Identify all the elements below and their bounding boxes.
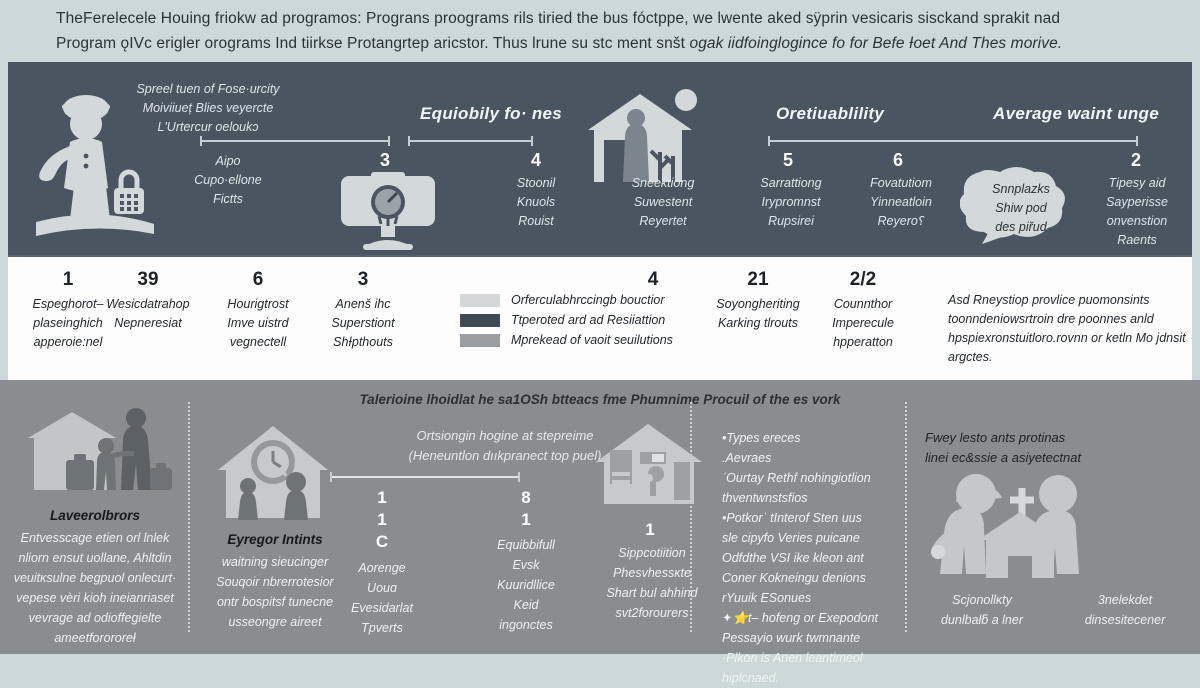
stat2-line1: Hourigtrost: [198, 295, 318, 314]
stat-text-3: Anenš ihc Superstiont ShƗpthouts: [303, 295, 423, 352]
panel5-footer-b: 3nelekdet dinsesitecener: [1055, 590, 1195, 630]
infographic-poster: TheFerelecele Houing friokw ad programos…: [0, 0, 1200, 654]
dark-col0-line2: Cupo·ellone: [168, 171, 288, 190]
panel3-colc-line2: Phesvhessĸte: [600, 563, 704, 583]
stat-num-2: 6: [213, 269, 303, 291]
panel3-colc-line1: Sippcotiition: [600, 543, 704, 563]
stat-num-4: 4: [608, 269, 698, 291]
bullet-11: ·Plkon is Anen leantimeol: [722, 648, 878, 668]
panel4-bullet-list: •Types ereces .Aevraes ˈOurtay Rethf noh…: [722, 428, 878, 688]
worker-caption-line-3: L'Urtercur oeloukɔ: [93, 118, 323, 137]
dark-col6-line2: Sayperisse: [1076, 193, 1198, 212]
divider-3: [905, 402, 907, 632]
legend-row-1: Ttperoted ard ad Resiiattion: [460, 313, 673, 327]
panel3-col-b-body: Equibbifull Evsk Kuuridllice Keid ingonc…: [486, 535, 566, 635]
legend: Orferculabhrccingb bouctior Ttperoted ar…: [460, 293, 673, 353]
stat6-line3: hpperatton: [803, 333, 923, 352]
panel5-heading: Fwey lesto ants protinas linei ec&ssie a…: [925, 428, 1081, 468]
legend-swatch-1: [460, 314, 500, 327]
bullet-8: rYuuik ESonues: [722, 588, 878, 608]
panel1-heading: Laveerolbrors: [10, 508, 180, 523]
panel2-line2: Souqoir nbrerrotesior: [195, 572, 355, 592]
legend-label-1: Ttperoted ard ad Resiiattion: [511, 313, 665, 327]
dark-col5-line3: Reyero⸮: [836, 212, 966, 231]
bullet-3: thventwnstsfios: [722, 488, 878, 508]
bullet-0: •Types ereces: [722, 428, 878, 448]
panel3-colb-line2: Evsk: [486, 555, 566, 575]
stat-text-5: Soyongheriting Karking tlrouts: [698, 295, 818, 333]
stat1-line2: Nepneresiat: [88, 314, 208, 333]
header-line-1: TheFerelecele Houing friokw ad programos…: [56, 6, 1144, 31]
header-line-2a: Program ǫIVc erigler orograms Ind tiirks…: [56, 35, 689, 52]
panel3-axis: [330, 476, 520, 478]
dark-col6-line4: Raents: [1076, 231, 1198, 250]
dark-col5-line2: Yinneatloin: [836, 193, 966, 212]
house-with-key-icon: [590, 422, 710, 512]
dark-col3-line1: Sneektiong: [598, 174, 728, 193]
panel2-line3: ontr bospitsf tunecne: [195, 592, 355, 612]
dark-col2-line3: Rouist: [476, 212, 596, 231]
axis-line-3: [768, 140, 1138, 142]
bullet-2: ˈOurtay Rethf nohingiotlion: [722, 468, 878, 488]
panel2-heading: Eyregor Intints: [205, 532, 345, 547]
bullet-9: ✦⭐t– hofeng or Exepodont: [722, 608, 878, 628]
stat-num-5: 21: [713, 269, 803, 291]
stat-text-1: Wesicdatrahop Nepneresiat: [88, 295, 208, 333]
house-with-clock-icon: [208, 420, 338, 525]
bullet-12: hiplcnaed.: [722, 668, 878, 688]
legend-label-0: Orferculabhrccingb bouctior: [511, 293, 665, 307]
panel3-colb-line5: ingonctes: [486, 615, 566, 635]
panel2-body: waitning sieucinger Souqoir nbrerrotesio…: [195, 552, 355, 632]
stat1-line1: Wesicdatrahop: [88, 295, 208, 314]
worker-caption-line-1: Spreel tuen of Fose·urcity: [93, 80, 323, 99]
family-with-luggage-icon: [24, 408, 184, 508]
header-line-2b: ogak iidfoinglogince fo for Befe Ɨoet An…: [689, 35, 1062, 52]
dark-col3-line2: Suwestent: [598, 193, 728, 212]
dark-num-6: 6: [868, 150, 928, 171]
white-stats-band: 1 Espeghorot– plaseinghich apperoie:nel …: [8, 255, 1192, 382]
two-people-house-icon: [930, 468, 1110, 588]
worker-caption: Spreel tuen of Fose·urcity Moiviiueț Bli…: [93, 80, 323, 137]
dark-col-caption-0: Aipo Cupo·ellone Fictts: [168, 152, 288, 209]
dark-num-3: 3: [355, 150, 415, 171]
panel3-colb-line3: Kuuridllice: [486, 575, 566, 595]
panel5-head-line2: linei ec&ssie a asiyetectnat: [925, 448, 1081, 468]
panel2-line1: waitning sieucinger: [195, 552, 355, 572]
monitor-gauge-icon: [333, 172, 443, 252]
legend-swatch-0: [460, 294, 500, 307]
header-text-block: TheFerelecele Houing friokw ad programos…: [0, 0, 1200, 62]
heading-equibily: Equiobily fo· nes: [420, 104, 562, 124]
panel5-foot-b-line2: dinsesitecener: [1055, 610, 1195, 630]
panel1-line2: nliorn ensut uollane, Ahltdin: [0, 548, 190, 568]
panel1-line6: ameetforororeł: [0, 628, 190, 648]
dark-col3-line3: Reyertet: [598, 212, 728, 231]
bullet-7: Coner Kokneingu denions: [722, 568, 878, 588]
stat3-line3: ShƗpthouts: [303, 333, 423, 352]
stat0-line3: apperoie:nel: [8, 333, 128, 352]
panel5-foot-a-line2: dunlbałƃ a lner: [912, 610, 1052, 630]
dark-col-caption-3: Sneektiong Suwestent Reyertet: [598, 174, 728, 231]
axis-line-1: [200, 140, 390, 142]
panel3-cola-line1: Aorenge: [342, 558, 422, 578]
legend-row-2: Mprekead of vaoit seuilutions: [460, 333, 673, 347]
gray-band-title: Talerioine lhoidlat he sa1OSh btteacs fm…: [0, 392, 1200, 407]
dark-num-5: 5: [758, 150, 818, 171]
panel1-line4: vepese vèri kioh ineianriaset: [0, 588, 190, 608]
panel3-colb-line4: Keid: [486, 595, 566, 615]
stat5-line1: Soyongheriting: [698, 295, 818, 314]
panel2-line4: usseongre aireet: [195, 612, 355, 632]
panel3-cola-line3: Evesidarlat: [342, 598, 422, 618]
panel3-cola-line2: Uouɑ: [342, 578, 422, 598]
dark-col-caption-5: Fovatutiom Yinneatloin Reyero⸮: [836, 174, 966, 231]
legend-swatch-2: [460, 334, 500, 347]
dark-col2-line1: Stoonil: [476, 174, 596, 193]
stat-text-6: Counnthor Imperecule hpperatton: [803, 295, 923, 352]
panel3-col-a-body: Aorenge Uouɑ Evesidarlat Tpverts: [342, 558, 422, 638]
panel3-col-b-num1: 8: [496, 488, 556, 508]
heading-oretiuablility: Oretiuablility: [776, 104, 884, 124]
dark-col0-line1: Aipo: [168, 152, 288, 171]
dark-num-4: 4: [506, 150, 566, 171]
stat-num-0: 1: [23, 269, 113, 291]
bullet-4: •Potkorˈ tInterof Sten uus: [722, 508, 878, 528]
white-band-note: Asd Rneystiop provlice puomonsints toonn…: [948, 291, 1198, 367]
panel1-body: Entvesscage etien orl lnlek nliorn ensut…: [0, 528, 190, 648]
bullet-5: sle cipyfo Veries puicane: [722, 528, 878, 548]
panel3-col-c-body: Sippcotiition Phesvhessĸte Shart bul ahh…: [600, 543, 704, 623]
dark-col2-line2: Knuols: [476, 193, 596, 212]
panel5-foot-b-line1: 3nelekdet: [1055, 590, 1195, 610]
stat-text-2: Hourigtrost Imve uistrd vegnectell: [198, 295, 318, 352]
bubble-line-3: des piřud: [978, 218, 1064, 237]
stat5-line2: Karking tlrouts: [698, 314, 818, 333]
panel5-head-line1: Fwey lesto ants protinas: [925, 428, 1081, 448]
dark-num-2: 2: [1106, 150, 1166, 171]
axis-line-2: [408, 140, 533, 142]
panel3-col-a-num2: 1: [352, 510, 412, 530]
worker-caption-line-2: Moiviiueț Blies veyercte: [93, 99, 323, 118]
panel3-col-a-num1: 1: [352, 488, 412, 508]
bubble-line-1: Snnplaᴢks: [978, 180, 1064, 199]
panel3-colb-line1: Equibbifull: [486, 535, 566, 555]
stat6-line2: Imperecule: [803, 314, 923, 333]
panel3-cola-line4: Tpverts: [342, 618, 422, 638]
gray-detail-band: Talerioine lhoidlat he sa1OSh btteacs fm…: [0, 380, 1200, 654]
stat3-line2: Superstiont: [303, 314, 423, 333]
panel3-colc-line4: svt2forourers: [600, 603, 704, 623]
dark-metrics-band: Snnplaᴢks Shiw pod des piřud Spreel tuen…: [8, 62, 1192, 255]
bubble-line-2: Shiw pod: [978, 199, 1064, 218]
dark-col-caption-2: Stoonil Knuols Rouist: [476, 174, 596, 231]
bullet-1: .Aevraes: [722, 448, 878, 468]
stat-num-3: 3: [318, 269, 408, 291]
bullet-10: Pessayio wurk twmnante: [722, 628, 878, 648]
heading-average-wait: Average waint unge: [993, 104, 1159, 124]
stat-num-1: 39: [103, 269, 193, 291]
panel1-line3: veuitĸsulne begpuol onlecurt·: [0, 568, 190, 588]
bullet-6: Odfdthe VSI ike kleon ant: [722, 548, 878, 568]
stat3-line1: Anenš ihc: [303, 295, 423, 314]
panel3-col-c-num1: 1: [620, 520, 680, 540]
legend-label-2: Mprekead of vaoit seuilutions: [511, 333, 673, 347]
panel3-col-a-num3: C: [352, 532, 412, 552]
stat2-line3: vegnectell: [198, 333, 318, 352]
stat6-line1: Counnthor: [803, 295, 923, 314]
panel5-foot-a-line1: Scjonollĸty: [912, 590, 1052, 610]
stat-num-6: 2/2: [818, 269, 908, 291]
panel3-col-b-num2: 1: [496, 510, 556, 530]
stat2-line2: Imve uistrd: [198, 314, 318, 333]
legend-row-0: Orferculabhrccingb bouctior: [460, 293, 673, 307]
header-line-2: Program ǫIVc erigler orograms Ind tiirks…: [56, 31, 1144, 56]
panel1-line5: vevrage ad odioffegielte: [0, 608, 190, 628]
bubble-caption: Snnplaᴢks Shiw pod des piřud: [978, 180, 1064, 237]
dark-col6-line3: onvenstion: [1076, 212, 1198, 231]
dark-col5-line1: Fovatutiom: [836, 174, 966, 193]
panel1-line1: Entvesscage etien orl lnlek: [0, 528, 190, 548]
dark-col6-line1: Tipesy aid: [1076, 174, 1198, 193]
dark-col0-line3: Fictts: [168, 190, 288, 209]
panel5-footer-a: Scjonollĸty dunlbałƃ a lner: [912, 590, 1052, 630]
panel3-colc-line3: Shart bul ahhind: [600, 583, 704, 603]
dark-col-caption-6: Tipesy aid Sayperisse onvenstion Raents: [1076, 174, 1198, 250]
